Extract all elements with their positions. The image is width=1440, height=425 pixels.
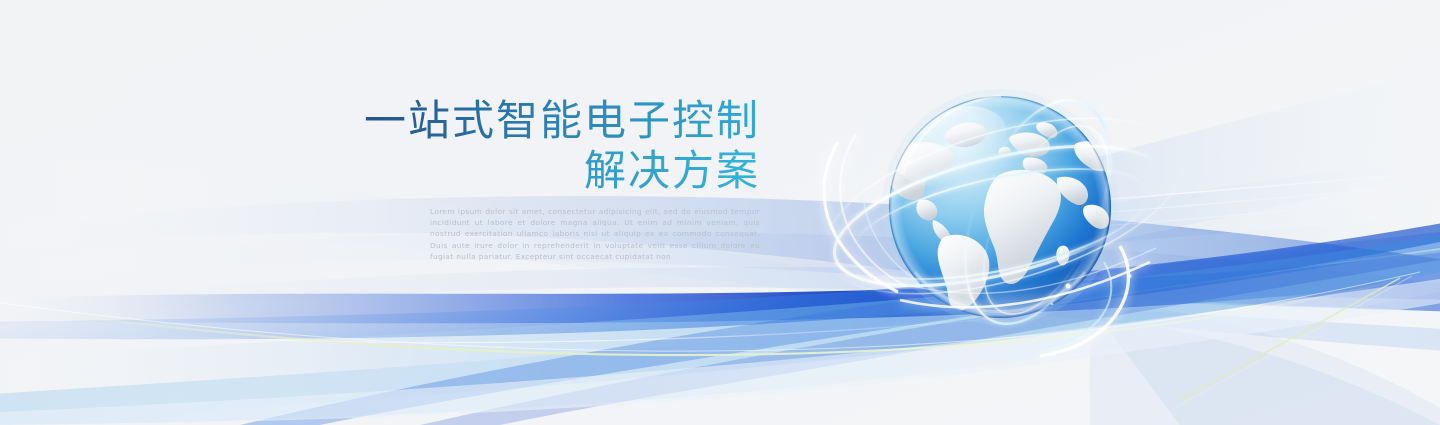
headline-line-2: 解决方案	[0, 146, 760, 196]
hero-text-block: 一站式智能电子控制 解决方案 Lorem ipsum dolor sit ame…	[0, 96, 760, 262]
globe-illustration	[889, 96, 1111, 318]
hero-paragraph: Lorem ipsum dolor sit amet, consectetur …	[430, 206, 760, 262]
headline-line-1: 一站式智能电子控制	[0, 96, 760, 146]
hero-banner: 一站式智能电子控制 解决方案 Lorem ipsum dolor sit ame…	[0, 0, 1440, 425]
